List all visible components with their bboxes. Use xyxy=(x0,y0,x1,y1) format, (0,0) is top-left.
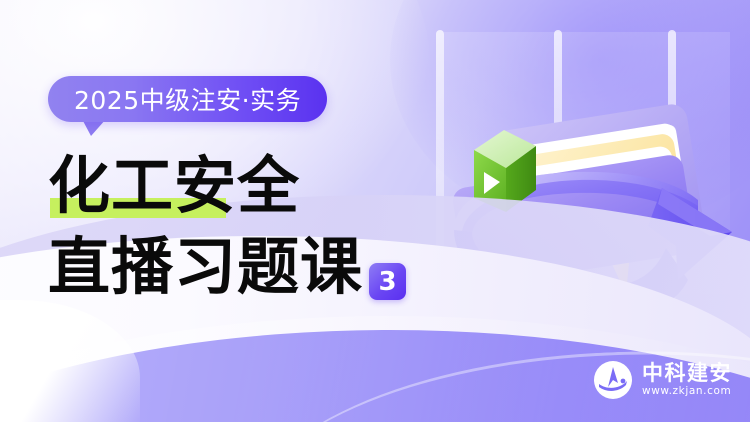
course-subtitle-badge: 2025中级注安·实务 xyxy=(48,76,327,122)
headline-row-2: 直播习题课 3 xyxy=(48,228,468,306)
headline-block: 化工安全 直播习题课 3 xyxy=(48,148,468,306)
brand-name: 中科建安 xyxy=(642,363,732,384)
course-promo-banner: 2025中级注安·实务 化工安全 直播习题课 3 中科建安 www.zkjan.… xyxy=(0,0,750,422)
circle-person-arrow-icon xyxy=(593,360,633,400)
headline-line-1: 化工安全 xyxy=(48,155,300,217)
brand-text: 中科建安 www.zkjan.com xyxy=(642,363,732,397)
episode-number-badge: 3 xyxy=(369,263,406,300)
brand-website: www.zkjan.com xyxy=(642,386,732,397)
episode-number: 3 xyxy=(378,269,396,295)
headline-line-2: 直播习题课 xyxy=(48,236,363,298)
headline-row-1: 化工安全 xyxy=(48,148,468,224)
brand-logo[interactable]: 中科建安 www.zkjan.com xyxy=(593,360,732,400)
course-subtitle-text: 2025中级注安·实务 xyxy=(74,81,301,117)
